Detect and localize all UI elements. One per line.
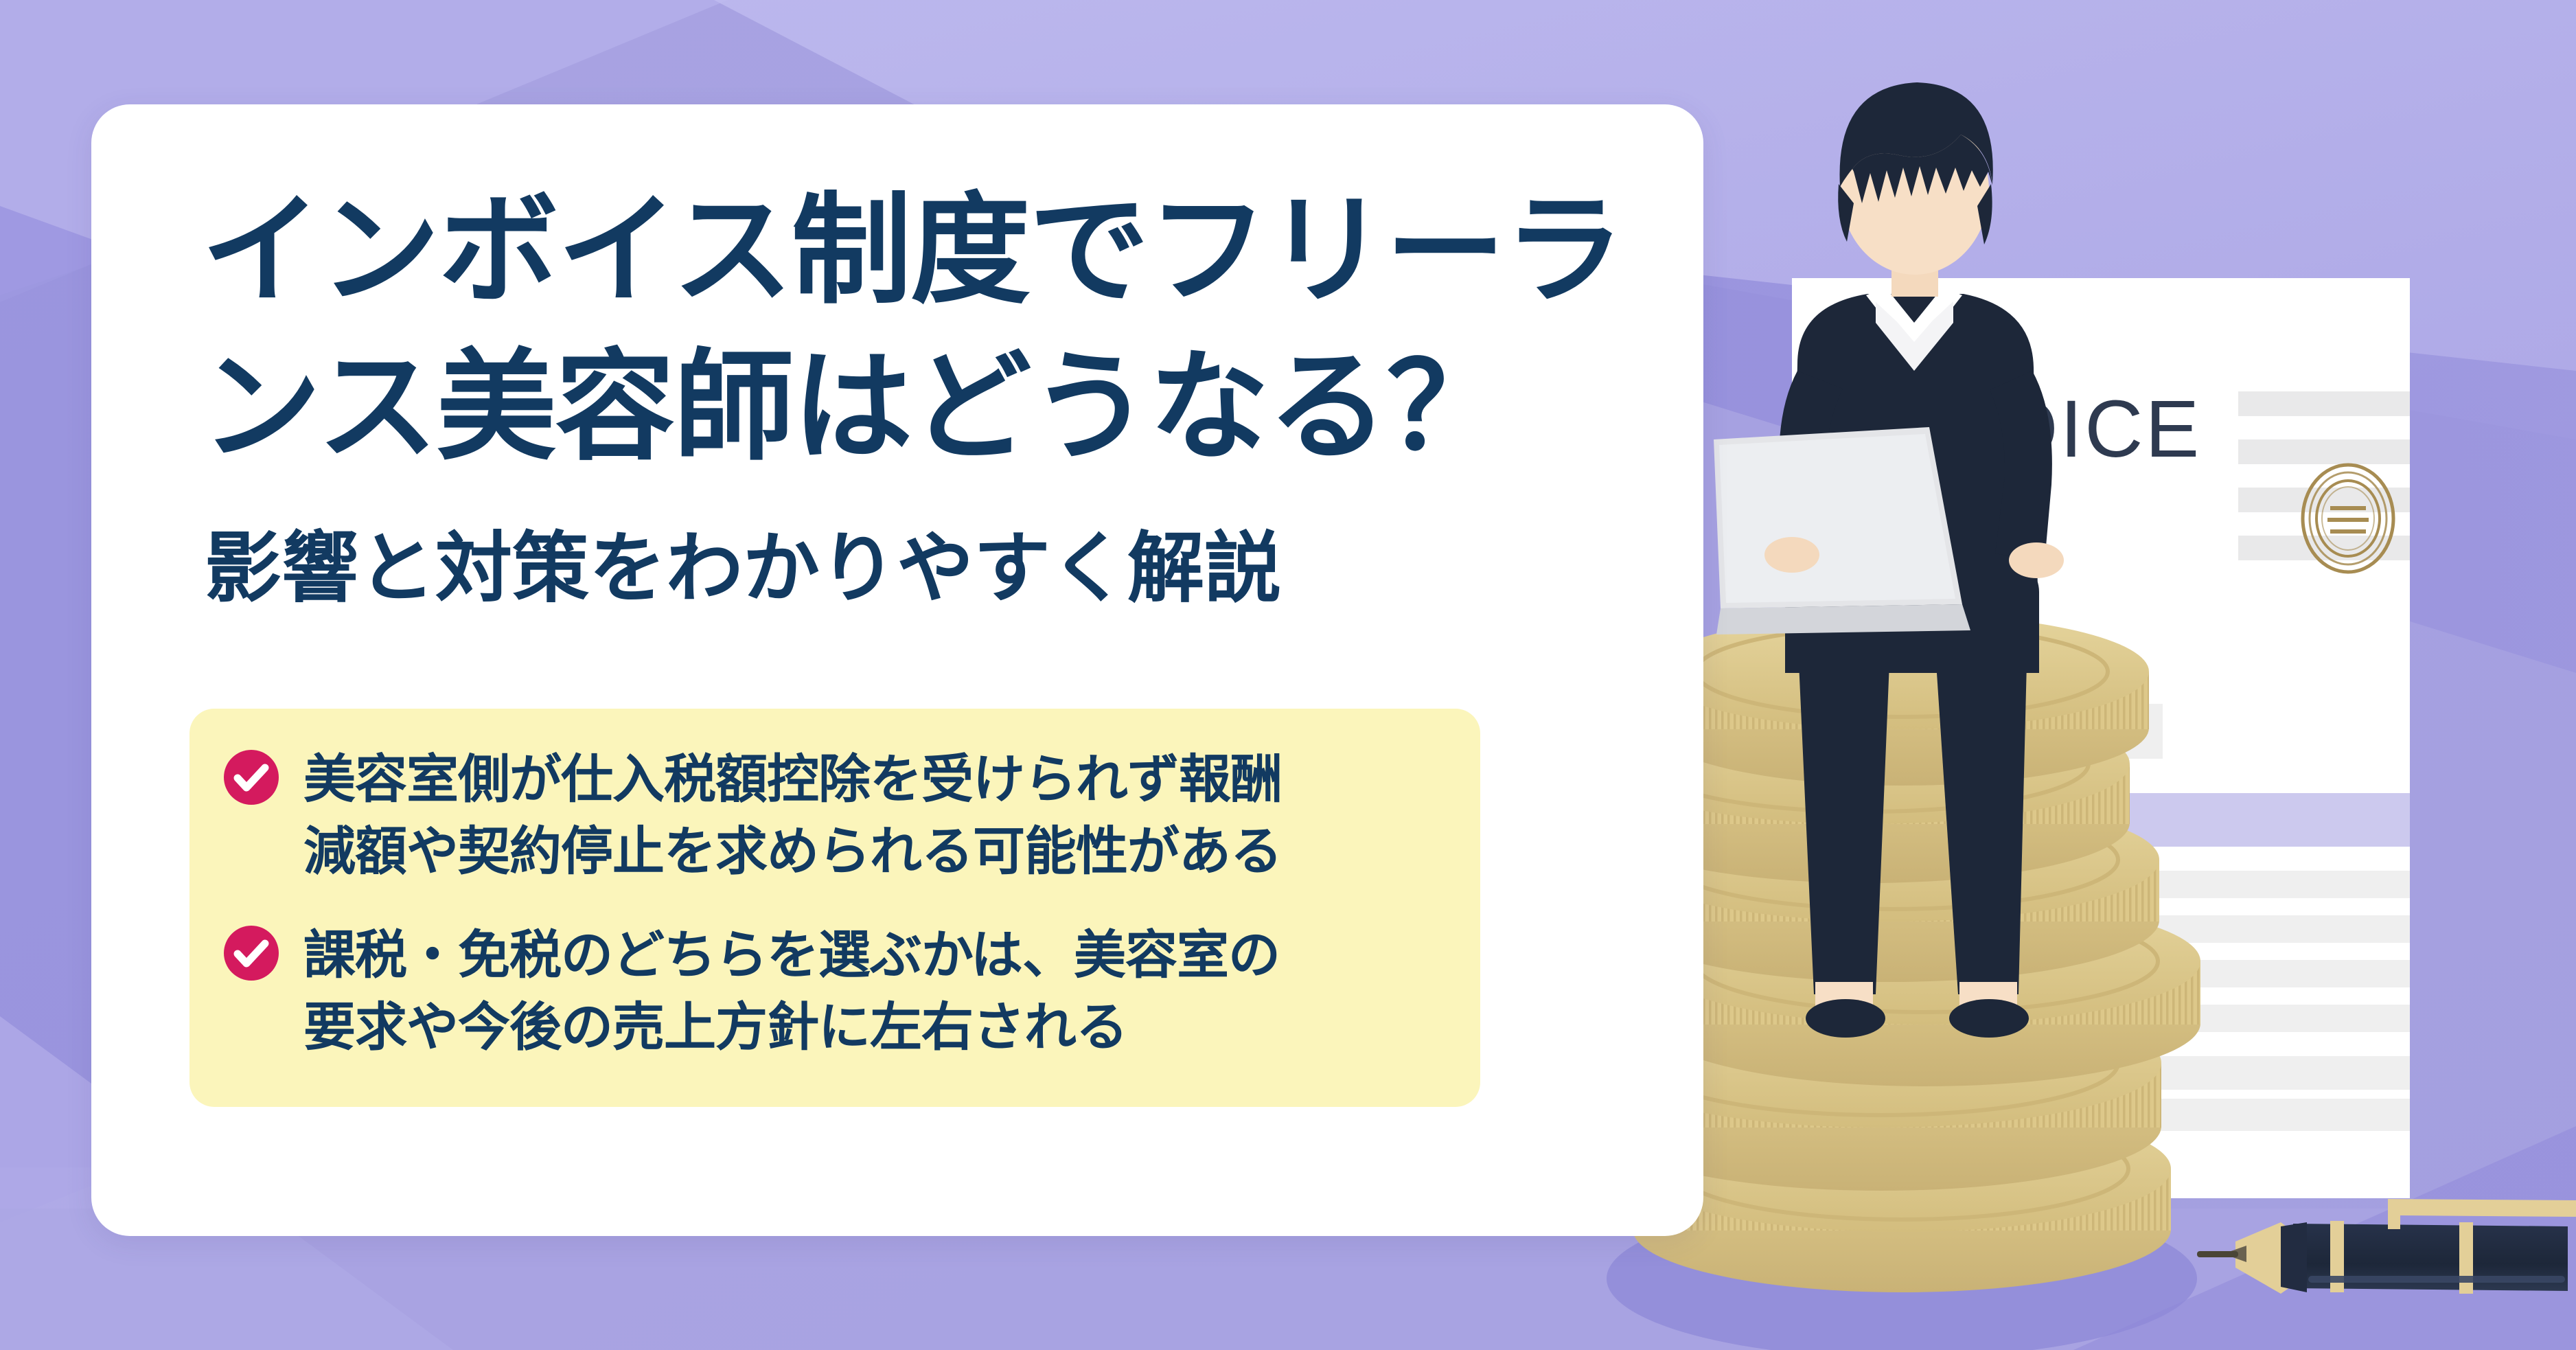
check-circle-icon xyxy=(222,748,280,806)
page-subtitle: 影響と対策をわかりやすく解説 xyxy=(205,516,1681,620)
list-item-label: 課税・免税のどちらを選ぶかは、美容室の 要求や今後の売上方針に左右される xyxy=(303,920,1280,1064)
content-card: インボイス制度でフリーラ ンス美容師はどうなる？ 影響と対策をわかりやすく解説 … xyxy=(91,104,1703,1236)
list-item-label: 美容室側が仕入税額控除を受けられず報酬 減額や契約停止を求められる可能性がある xyxy=(303,744,1282,889)
fountain-pen-icon xyxy=(2197,1199,2576,1294)
official-seal-icon xyxy=(2303,465,2393,572)
list-item: 美容室側が仕入税額控除を受けられず報酬 減額や契約停止を求められる可能性がある xyxy=(222,744,1449,889)
laptop-icon xyxy=(1714,427,1970,634)
invoice-illustration: INVOICE xyxy=(1579,0,2576,1350)
check-circle-icon xyxy=(222,924,280,982)
list-item: 課税・免税のどちらを選ぶかは、美容室の 要求や今後の売上方針に左右される xyxy=(222,920,1449,1064)
page-title: インボイス制度でフリーラ ンス美容師はどうなる？ xyxy=(201,173,1677,485)
key-points-box: 美容室側が仕入税額控除を受けられず報酬 減額や契約停止を求められる可能性がある … xyxy=(189,709,1480,1107)
